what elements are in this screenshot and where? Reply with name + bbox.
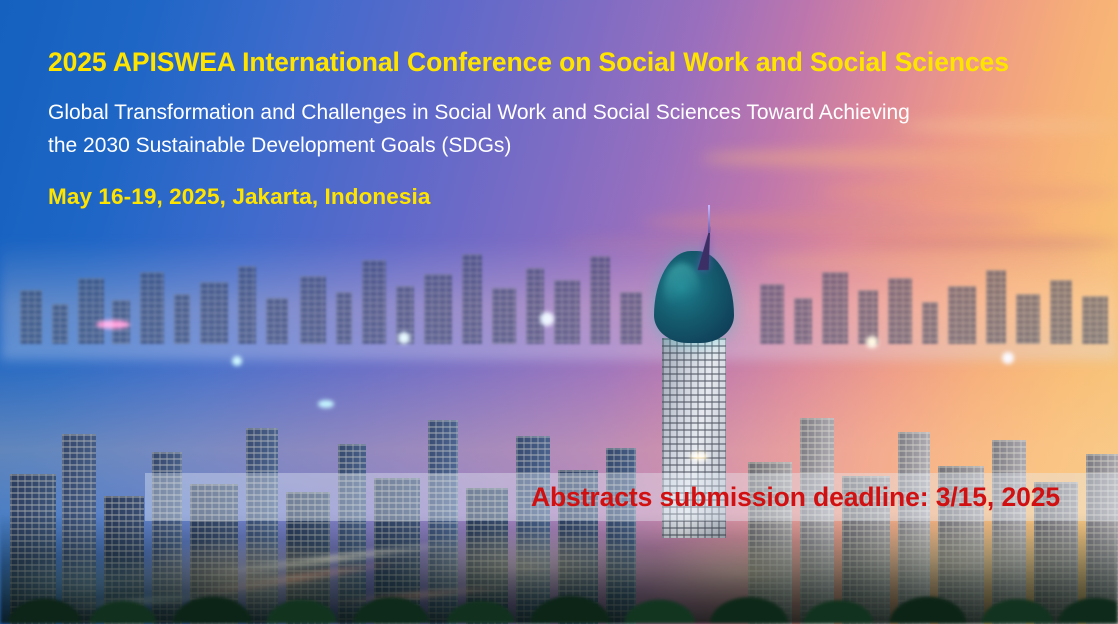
tree-canopy <box>0 514 1118 624</box>
conference-banner: 2025 APISWEA International Conference on… <box>0 0 1118 624</box>
city-skyline <box>0 224 1118 624</box>
deadline-band: Abstracts submission deadline: 3/15, 202… <box>145 473 1118 521</box>
conference-dateline: May 16-19, 2025, Jakarta, Indonesia <box>48 184 1078 210</box>
abstract-deadline-text: Abstracts submission deadline: 3/15, 202… <box>531 482 1060 513</box>
subtitle-line-2: the 2030 Sustainable Development Goals (… <box>48 129 1058 162</box>
conference-title: 2025 APISWEA International Conference on… <box>48 46 1078 79</box>
distant-skyline <box>0 224 1118 344</box>
conference-subtitle: Global Transformation and Challenges in … <box>48 96 1058 162</box>
banner-text-block: 2025 APISWEA International Conference on… <box>48 46 1078 210</box>
subtitle-line-1: Global Transformation and Challenges in … <box>48 96 1058 129</box>
